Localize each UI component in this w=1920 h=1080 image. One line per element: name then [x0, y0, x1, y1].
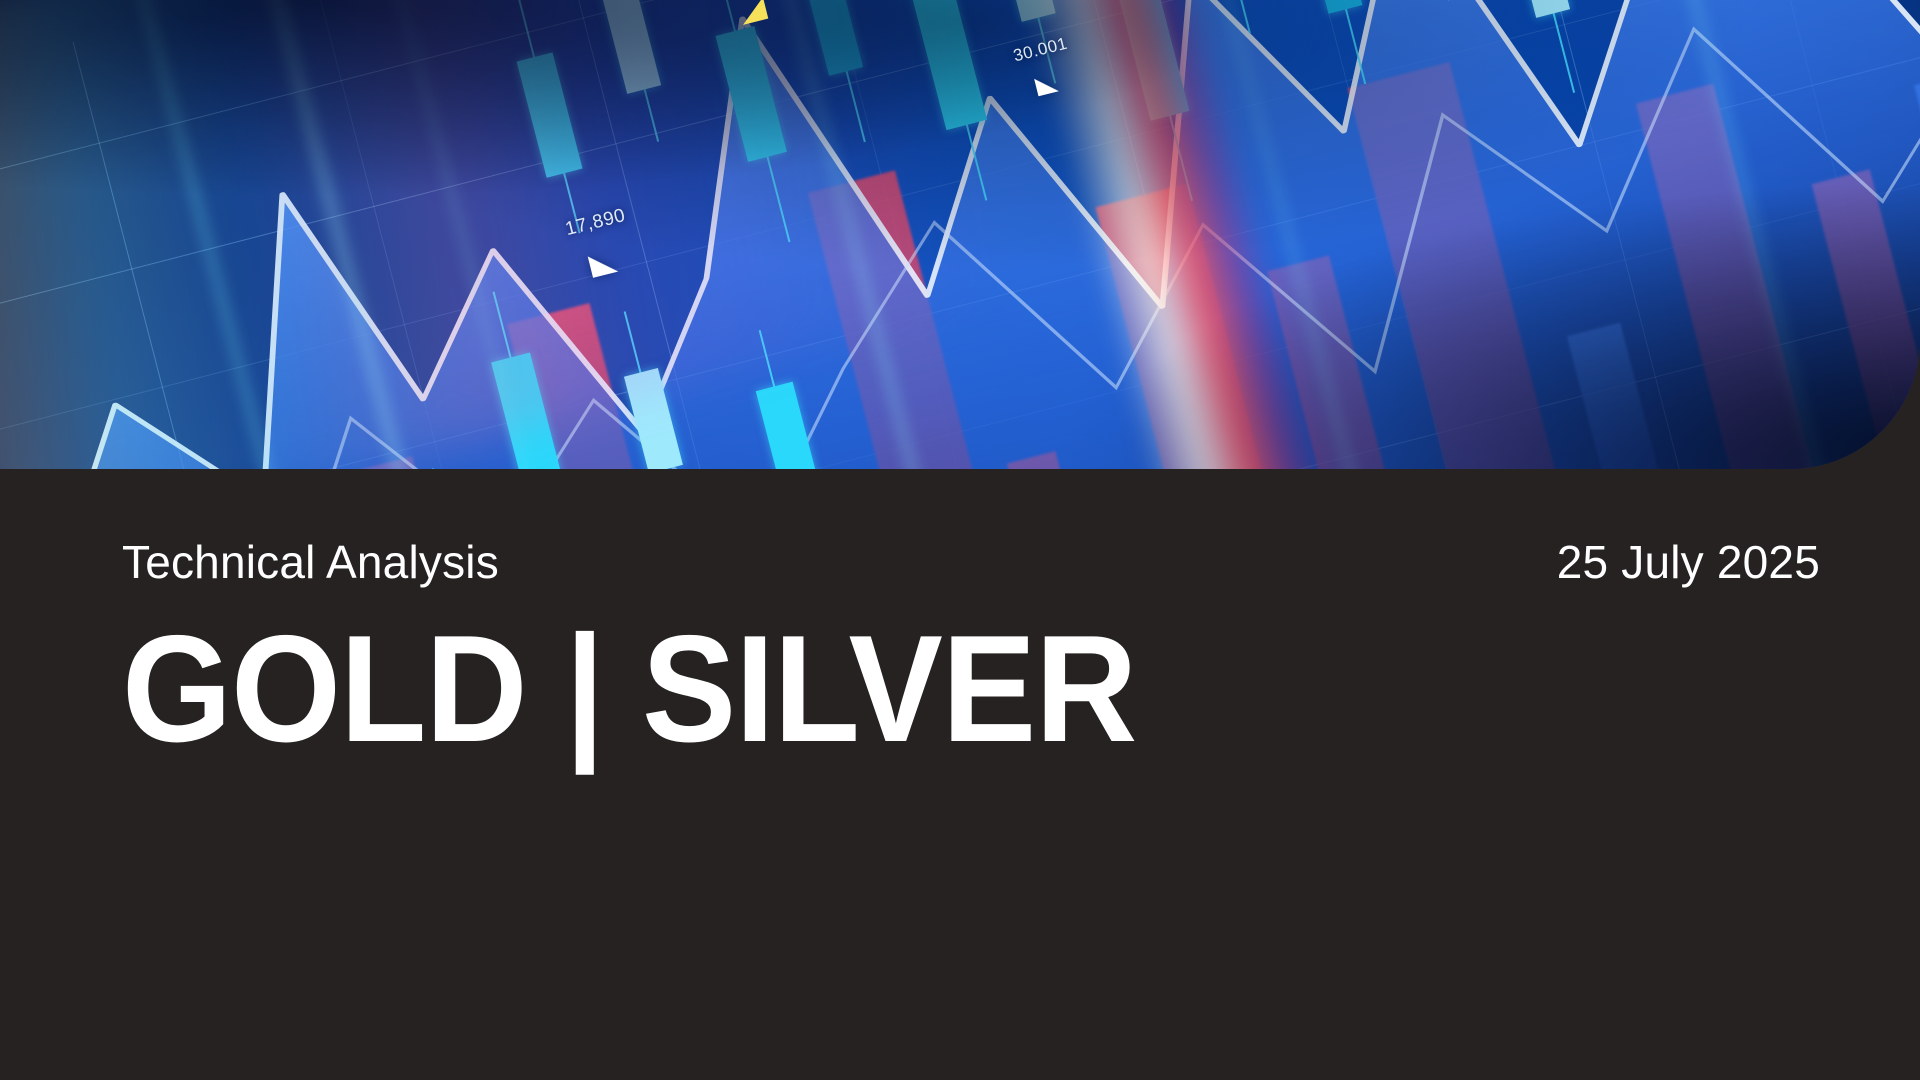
- hero-banner-image: 17,890 30.001: [0, 0, 1920, 469]
- hero-vignette: [0, 0, 1920, 469]
- page-title: GOLD | SILVER: [122, 609, 1136, 770]
- issue-date: 25 July 2025: [1557, 539, 1820, 585]
- title-panel: Technical Analysis 25 July 2025 GOLD | S…: [0, 469, 1920, 1080]
- meta-row: Technical Analysis 25 July 2025: [122, 539, 1820, 585]
- kicker-label: Technical Analysis: [122, 539, 499, 585]
- cover-slide: 17,890 30.001 Technical Analysis 25 July…: [0, 0, 1920, 1080]
